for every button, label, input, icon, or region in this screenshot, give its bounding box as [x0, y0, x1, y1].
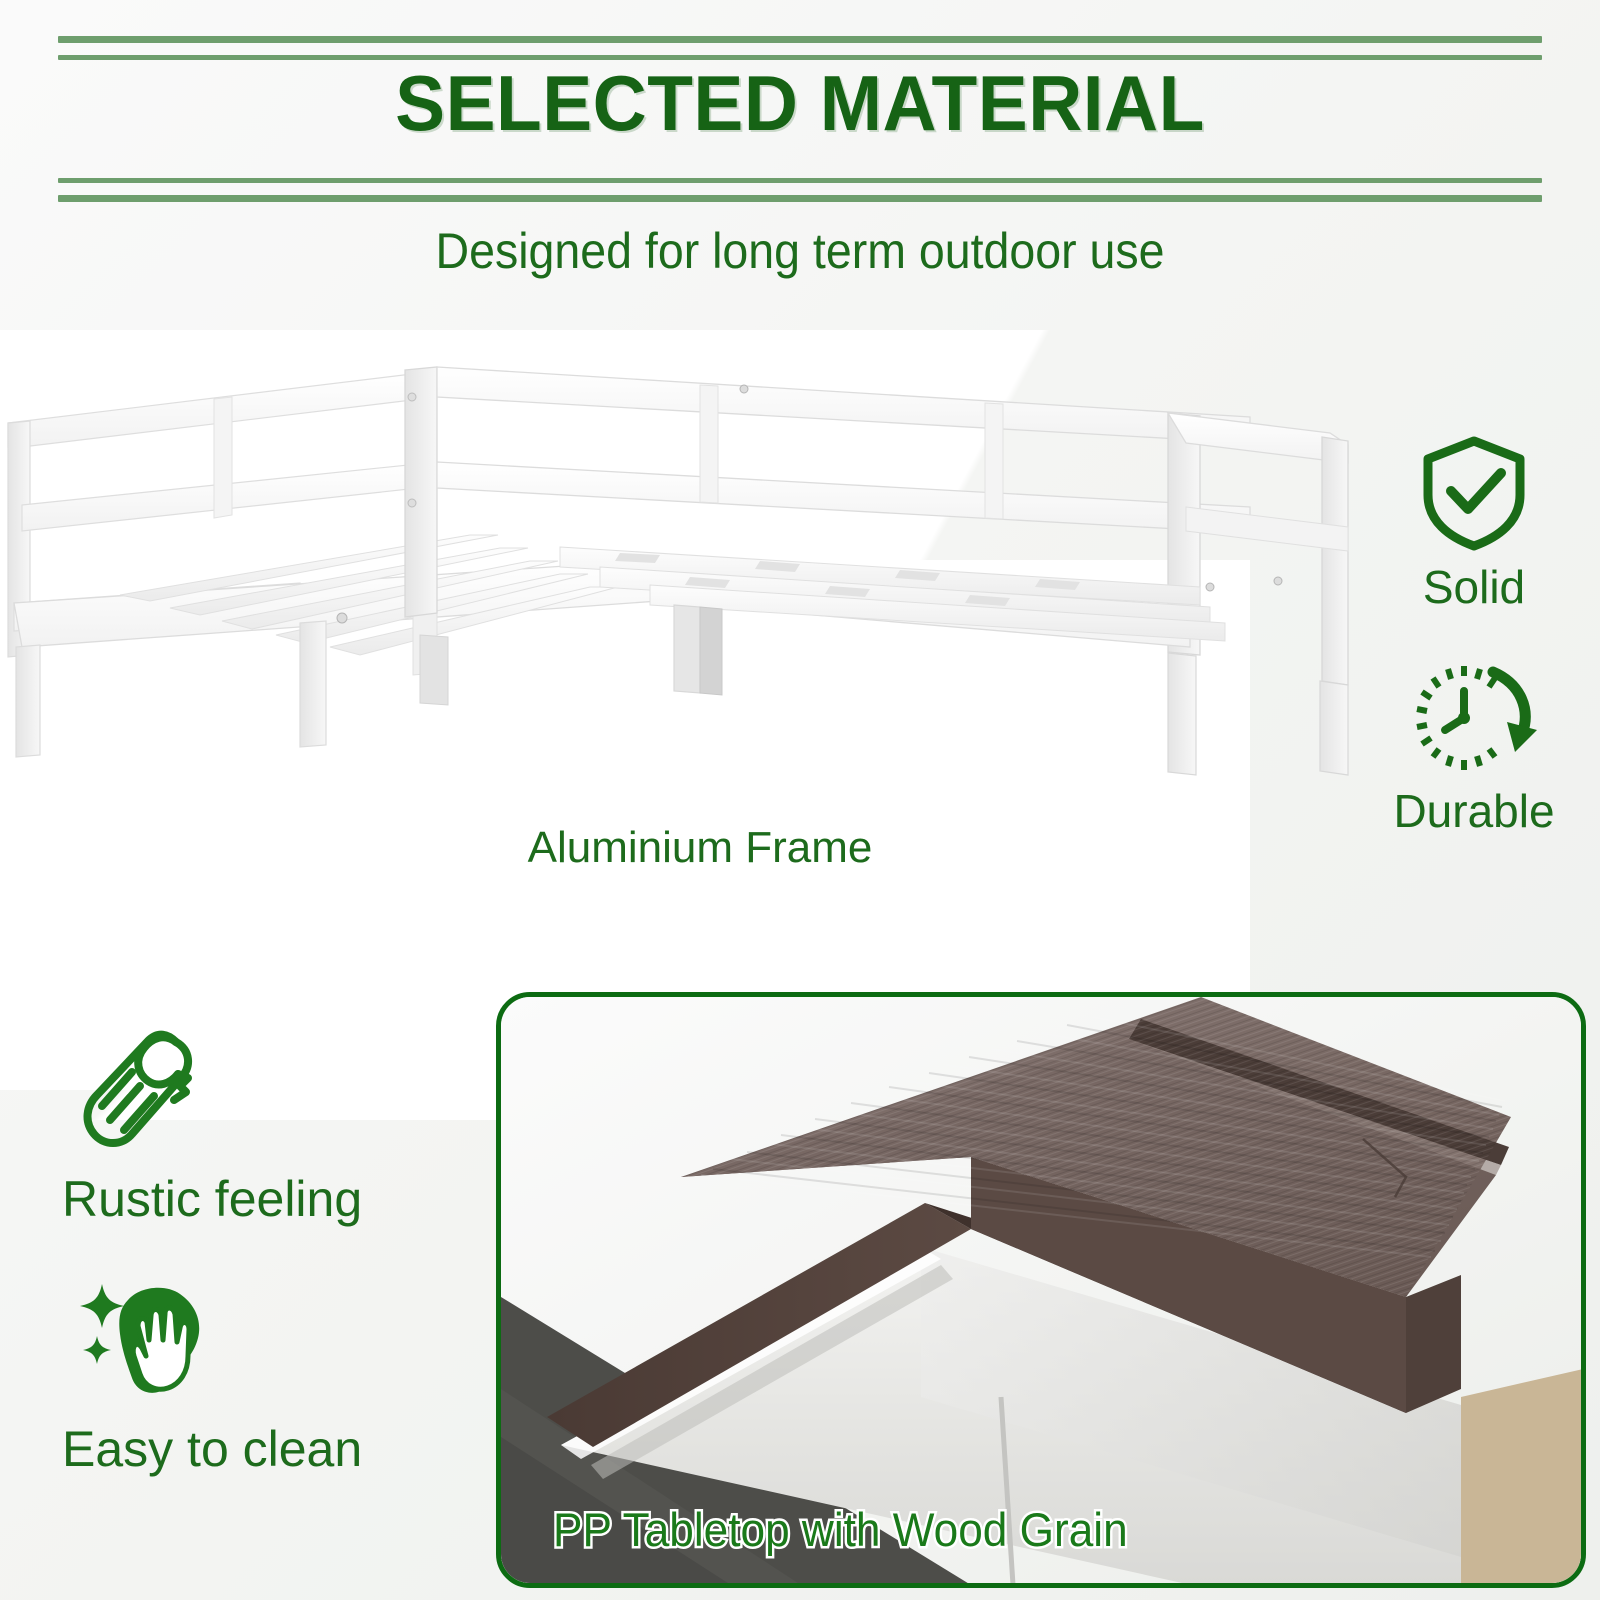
feature-label: Durable — [1374, 784, 1574, 838]
header-rule-top — [58, 36, 1542, 60]
feature-durable: Durable — [1374, 652, 1574, 838]
inset-closeup-panel: PP Tabletop with Wood Grain — [496, 992, 1586, 1588]
tabletop-closeup-image — [501, 997, 1583, 1585]
inset-caption: PP Tabletop with Wood Grain — [553, 1502, 1128, 1557]
rule-gap — [58, 183, 1542, 195]
feature-solid: Solid — [1374, 428, 1574, 614]
feature-rustic-feeling: Rustic feeling — [62, 1018, 492, 1228]
rule-line — [58, 36, 1542, 43]
rule-gap — [58, 43, 1542, 55]
wood-log-icon — [62, 1018, 492, 1158]
feature-label: Rustic feeling — [62, 1170, 492, 1228]
header-rule-bottom — [58, 178, 1542, 202]
feature-easy-to-clean: Easy to clean — [62, 1268, 492, 1478]
clock-arrow-icon — [1374, 652, 1574, 782]
feature-label: Solid — [1374, 560, 1574, 614]
product-caption: Aluminium Frame — [0, 823, 1400, 873]
shield-check-icon — [1374, 428, 1574, 558]
hand-wipe-sparkle-icon — [62, 1268, 492, 1408]
rule-line — [58, 195, 1542, 202]
page-title: SELECTED MATERIAL — [32, 58, 1568, 149]
product-photo-aluminium-frame — [0, 355, 1400, 835]
page-subtitle: Designed for long term outdoor use — [56, 222, 1544, 280]
feature-label: Easy to clean — [62, 1420, 492, 1478]
infographic-page: SELECTED MATERIAL Designed for long term… — [0, 0, 1600, 1600]
